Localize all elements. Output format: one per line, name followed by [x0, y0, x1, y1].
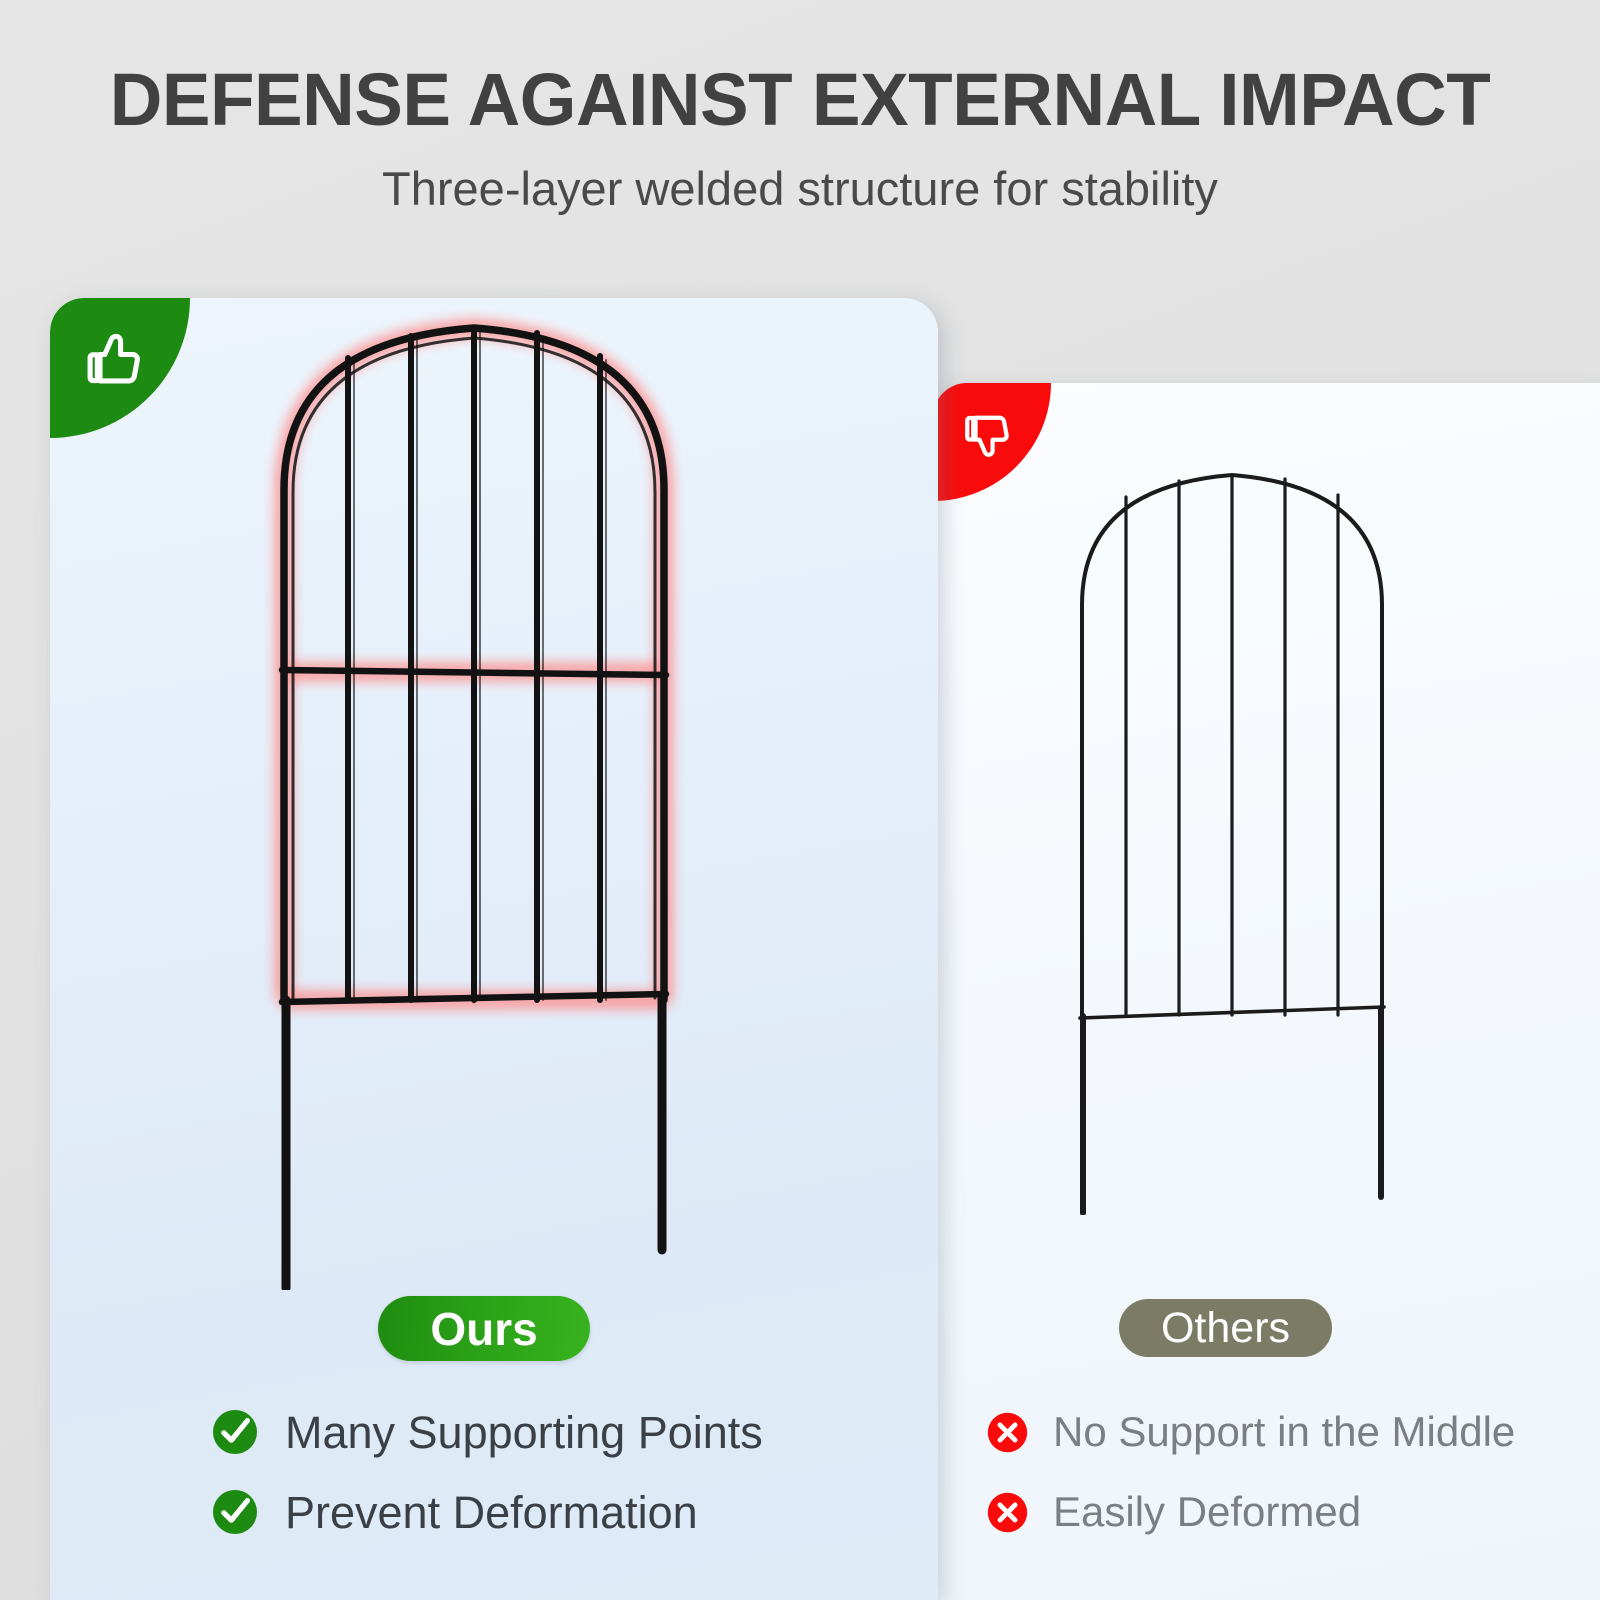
thumbs-up-icon	[89, 337, 151, 400]
list-item: Many Supporting Points	[211, 1392, 851, 1472]
list-item: Easily Deformed	[986, 1472, 1566, 1552]
check-circle-icon	[211, 1488, 259, 1536]
ours-label-text: Ours	[430, 1302, 537, 1356]
check-circle-icon	[211, 1408, 259, 1456]
page-title: DEFENSE AGAINST EXTERNAL IMPACT	[12, 0, 1588, 139]
ours-product-image	[196, 300, 756, 1290]
feature-label: Easily Deformed	[1053, 1491, 1361, 1533]
header: DEFENSE AGAINST EXTERNAL IMPACT Three-la…	[0, 0, 1600, 216]
thumbs-down-icon	[966, 414, 1018, 471]
feature-label: Many Supporting Points	[285, 1410, 763, 1455]
others-label-pill: Others	[1119, 1299, 1332, 1357]
thumbs-up-badge	[50, 298, 190, 438]
feature-label: No Support in the Middle	[1053, 1411, 1515, 1453]
others-product-image	[1022, 455, 1442, 1215]
page-subtitle: Three-layer welded structure for stabili…	[0, 139, 1600, 216]
x-circle-icon	[986, 1411, 1029, 1454]
others-feature-list: No Support in the Middle Easily Deformed	[986, 1392, 1566, 1552]
ours-feature-list: Many Supporting Points Prevent Deformati…	[211, 1392, 851, 1552]
feature-label: Prevent Deformation	[285, 1490, 698, 1535]
list-item: Prevent Deformation	[211, 1472, 851, 1552]
infographic-page: DEFENSE AGAINST EXTERNAL IMPACT Three-la…	[0, 0, 1600, 1600]
x-circle-icon	[986, 1491, 1029, 1534]
ours-label-pill: Ours	[378, 1296, 590, 1361]
others-label-text: Others	[1161, 1304, 1290, 1353]
list-item: No Support in the Middle	[986, 1392, 1566, 1472]
